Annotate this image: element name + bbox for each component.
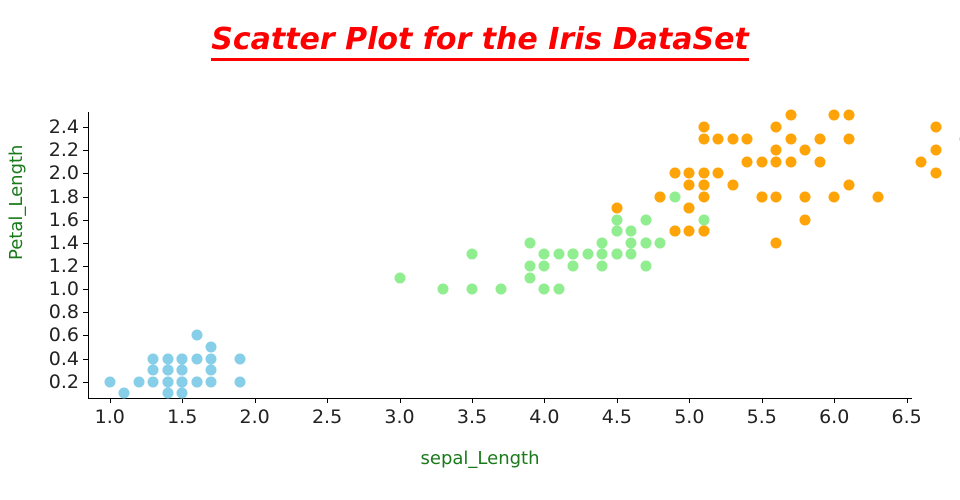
scatter-point-versicolor bbox=[640, 237, 651, 248]
x-tick-label: 3.0 bbox=[384, 406, 414, 428]
x-tick-label: 5.0 bbox=[674, 406, 704, 428]
scatter-point-setosa bbox=[206, 353, 217, 364]
scatter-point-versicolor bbox=[466, 284, 477, 295]
y-tick-label: 1.4 bbox=[49, 232, 79, 254]
x-tick-mark bbox=[762, 398, 763, 403]
page-title: Scatter Plot for the Iris DataSet bbox=[0, 22, 960, 61]
x-tick-label: 6.0 bbox=[819, 406, 849, 428]
scatter-point-virginica bbox=[829, 191, 840, 202]
y-tick-label: 0.8 bbox=[49, 301, 79, 323]
scatter-point-virginica bbox=[698, 191, 709, 202]
scatter-point-virginica bbox=[771, 122, 782, 133]
scatter-point-virginica bbox=[727, 179, 738, 190]
x-tick-mark bbox=[907, 398, 908, 403]
scatter-point-virginica bbox=[785, 133, 796, 144]
scatter-point-virginica bbox=[698, 179, 709, 190]
y-tick-mark bbox=[83, 266, 88, 267]
scatter-point-virginica bbox=[727, 133, 738, 144]
scatter-point-versicolor bbox=[669, 191, 680, 202]
scatter-point-setosa bbox=[119, 388, 130, 399]
scatter-point-setosa bbox=[148, 376, 159, 387]
scatter-point-versicolor bbox=[568, 249, 579, 260]
scatter-point-virginica bbox=[829, 110, 840, 121]
scatter-point-virginica bbox=[800, 214, 811, 225]
y-tick-label: 1.8 bbox=[49, 186, 79, 208]
scatter-point-setosa bbox=[177, 388, 188, 399]
x-tick-mark bbox=[617, 398, 618, 403]
scatter-point-virginica bbox=[771, 145, 782, 156]
scatter-point-virginica bbox=[713, 133, 724, 144]
plot-area: 0.20.40.60.81.01.21.41.61.82.02.22.41.01… bbox=[88, 112, 911, 398]
y-tick-label: 0.4 bbox=[49, 348, 79, 370]
scatter-point-virginica bbox=[785, 156, 796, 167]
scatter-point-setosa bbox=[162, 365, 173, 376]
x-tick-mark bbox=[472, 398, 473, 403]
scatter-point-virginica bbox=[684, 168, 695, 179]
x-tick-label: 1.5 bbox=[167, 406, 197, 428]
scatter-point-versicolor bbox=[611, 214, 622, 225]
y-tick-label: 0.6 bbox=[49, 324, 79, 346]
scatter-point-virginica bbox=[698, 122, 709, 133]
y-tick-mark bbox=[83, 220, 88, 221]
scatter-point-virginica bbox=[843, 179, 854, 190]
scatter-point-versicolor bbox=[626, 249, 637, 260]
scatter-point-virginica bbox=[669, 168, 680, 179]
y-axis-label: Petal_Length bbox=[6, 145, 27, 260]
scatter-point-virginica bbox=[800, 145, 811, 156]
scatter-point-versicolor bbox=[597, 237, 608, 248]
scatter-point-virginica bbox=[698, 226, 709, 237]
scatter-point-virginica bbox=[930, 122, 941, 133]
scatter-point-versicolor bbox=[640, 214, 651, 225]
scatter-point-virginica bbox=[800, 191, 811, 202]
scatter-point-versicolor bbox=[539, 284, 550, 295]
scatter-point-versicolor bbox=[553, 249, 564, 260]
scatter-point-versicolor bbox=[698, 214, 709, 225]
scatter-point-versicolor bbox=[495, 284, 506, 295]
scatter-point-virginica bbox=[814, 156, 825, 167]
y-tick-mark bbox=[83, 312, 88, 313]
scatter-point-setosa bbox=[191, 330, 202, 341]
scatter-point-virginica bbox=[742, 156, 753, 167]
scatter-point-setosa bbox=[162, 376, 173, 387]
scatter-point-versicolor bbox=[394, 272, 405, 283]
scatter-point-versicolor bbox=[539, 261, 550, 272]
scatter-point-versicolor bbox=[655, 237, 666, 248]
x-axis-label: sepal_Length bbox=[0, 448, 960, 469]
scatter-point-setosa bbox=[133, 376, 144, 387]
x-tick-label: 4.5 bbox=[602, 406, 632, 428]
scatter-point-virginica bbox=[814, 133, 825, 144]
y-tick-mark bbox=[83, 335, 88, 336]
x-tick-mark bbox=[255, 398, 256, 403]
chart-title-text: Scatter Plot for the Iris DataSet bbox=[211, 24, 749, 61]
scatter-point-versicolor bbox=[611, 226, 622, 237]
scatter-point-versicolor bbox=[539, 249, 550, 260]
y-tick-mark bbox=[83, 150, 88, 151]
scatter-point-virginica bbox=[698, 133, 709, 144]
scatter-point-virginica bbox=[611, 203, 622, 214]
scatter-point-virginica bbox=[872, 191, 883, 202]
y-tick-label: 0.2 bbox=[49, 371, 79, 393]
scatter-point-versicolor bbox=[597, 249, 608, 260]
x-tick-mark bbox=[834, 398, 835, 403]
scatter-point-virginica bbox=[713, 168, 724, 179]
scatter-point-setosa bbox=[235, 376, 246, 387]
scatter-point-virginica bbox=[916, 156, 927, 167]
y-tick-label: 2.4 bbox=[49, 116, 79, 138]
y-tick-mark bbox=[83, 382, 88, 383]
y-tick-label: 2.2 bbox=[49, 139, 79, 161]
y-tick-mark bbox=[83, 359, 88, 360]
scatter-point-virginica bbox=[655, 191, 666, 202]
scatter-point-setosa bbox=[162, 353, 173, 364]
x-tick-label: 5.5 bbox=[747, 406, 777, 428]
y-tick-mark bbox=[83, 243, 88, 244]
x-tick-mark bbox=[400, 398, 401, 403]
scatter-point-setosa bbox=[206, 342, 217, 353]
scatter-point-virginica bbox=[843, 110, 854, 121]
scatter-point-virginica bbox=[669, 226, 680, 237]
x-tick-label: 2.0 bbox=[240, 406, 270, 428]
y-tick-label: 1.0 bbox=[49, 278, 79, 300]
scatter-point-setosa bbox=[148, 353, 159, 364]
scatter-point-setosa bbox=[177, 376, 188, 387]
scatter-point-setosa bbox=[235, 353, 246, 364]
scatter-point-setosa bbox=[206, 365, 217, 376]
scatter-point-versicolor bbox=[597, 261, 608, 272]
x-tick-mark bbox=[689, 398, 690, 403]
x-tick-mark bbox=[327, 398, 328, 403]
scatter-point-virginica bbox=[771, 156, 782, 167]
scatter-point-virginica bbox=[771, 237, 782, 248]
scatter-point-setosa bbox=[104, 376, 115, 387]
x-tick-label: 4.0 bbox=[529, 406, 559, 428]
x-tick-mark bbox=[544, 398, 545, 403]
scatter-point-versicolor bbox=[553, 284, 564, 295]
scatter-point-versicolor bbox=[524, 237, 535, 248]
y-tick-mark bbox=[83, 173, 88, 174]
scatter-point-versicolor bbox=[524, 272, 535, 283]
scatter-point-virginica bbox=[930, 168, 941, 179]
scatter-point-virginica bbox=[785, 110, 796, 121]
scatter-point-virginica bbox=[684, 226, 695, 237]
scatter-point-virginica bbox=[698, 168, 709, 179]
scatter-point-virginica bbox=[684, 179, 695, 190]
x-axis-spine bbox=[88, 398, 912, 399]
x-tick-label: 6.5 bbox=[892, 406, 922, 428]
x-tick-label: 1.0 bbox=[95, 406, 125, 428]
scatter-point-setosa bbox=[206, 376, 217, 387]
y-tick-label: 1.2 bbox=[49, 255, 79, 277]
scatter-point-virginica bbox=[930, 145, 941, 156]
scatter-plot-figure: Scatter Plot for the Iris DataSet 0.20.4… bbox=[0, 0, 960, 500]
scatter-point-versicolor bbox=[626, 237, 637, 248]
scatter-point-versicolor bbox=[568, 261, 579, 272]
scatter-point-versicolor bbox=[611, 249, 622, 260]
scatter-point-versicolor bbox=[626, 226, 637, 237]
y-tick-mark bbox=[83, 289, 88, 290]
scatter-point-setosa bbox=[191, 376, 202, 387]
scatter-point-setosa bbox=[177, 353, 188, 364]
x-tick-label: 2.5 bbox=[312, 406, 342, 428]
scatter-point-virginica bbox=[742, 133, 753, 144]
y-tick-mark bbox=[83, 197, 88, 198]
scatter-point-versicolor bbox=[640, 261, 651, 272]
scatter-point-virginica bbox=[756, 156, 767, 167]
scatter-point-versicolor bbox=[437, 284, 448, 295]
scatter-point-virginica bbox=[756, 191, 767, 202]
y-tick-mark bbox=[83, 127, 88, 128]
x-tick-mark bbox=[110, 398, 111, 403]
x-tick-label: 3.5 bbox=[457, 406, 487, 428]
scatter-point-versicolor bbox=[524, 261, 535, 272]
scatter-point-setosa bbox=[177, 365, 188, 376]
scatter-point-versicolor bbox=[582, 249, 593, 260]
y-tick-label: 2.0 bbox=[49, 162, 79, 184]
scatter-point-virginica bbox=[771, 191, 782, 202]
scatter-point-versicolor bbox=[466, 249, 477, 260]
y-tick-label: 1.6 bbox=[49, 209, 79, 231]
scatter-point-setosa bbox=[162, 388, 173, 399]
scatter-point-setosa bbox=[148, 365, 159, 376]
scatter-point-virginica bbox=[843, 133, 854, 144]
scatter-point-setosa bbox=[191, 353, 202, 364]
scatter-point-virginica bbox=[684, 203, 695, 214]
